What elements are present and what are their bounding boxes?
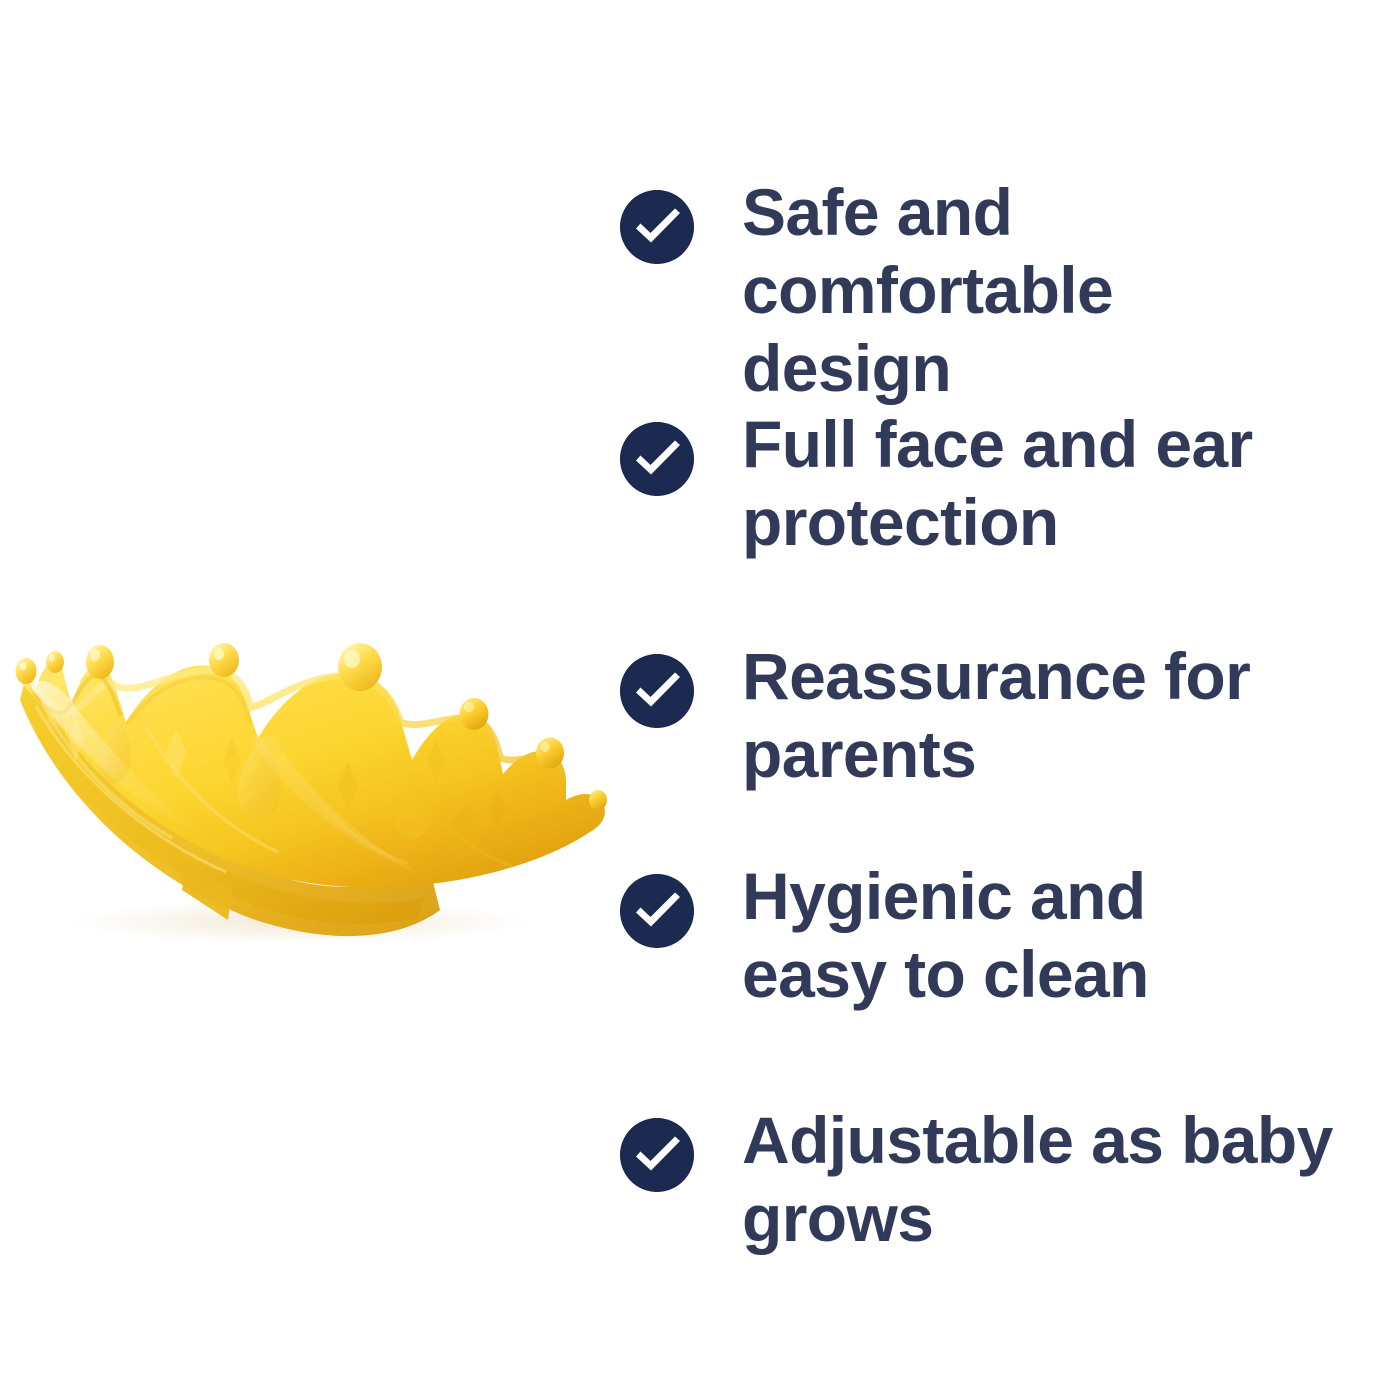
check-icon xyxy=(620,654,694,728)
feature-item: Reassurance for parents xyxy=(620,638,1380,794)
feature-item: Full face and ear protection xyxy=(620,406,1380,562)
feature-item: Adjustable as baby grows xyxy=(620,1102,1380,1258)
product-image xyxy=(0,470,660,950)
feature-list: Safe and comfortable design Full face an… xyxy=(620,150,1380,1270)
feature-item: Hygienic and easy to clean xyxy=(620,858,1380,1014)
feature-label: Reassurance for parents xyxy=(742,638,1380,794)
feature-label: Adjustable as baby grows xyxy=(742,1102,1380,1258)
feature-label: Hygienic and easy to clean xyxy=(742,858,1380,1014)
check-icon xyxy=(620,1118,694,1192)
feature-label: Full face and ear protection xyxy=(742,406,1380,562)
check-icon xyxy=(620,190,694,264)
feature-highlight-canvas: Safe and comfortable design Full face an… xyxy=(0,0,1400,1400)
check-icon xyxy=(620,874,694,948)
feature-label: Safe and comfortable design xyxy=(742,174,1380,408)
feature-item: Safe and comfortable design xyxy=(620,174,1380,408)
check-icon xyxy=(620,422,694,496)
